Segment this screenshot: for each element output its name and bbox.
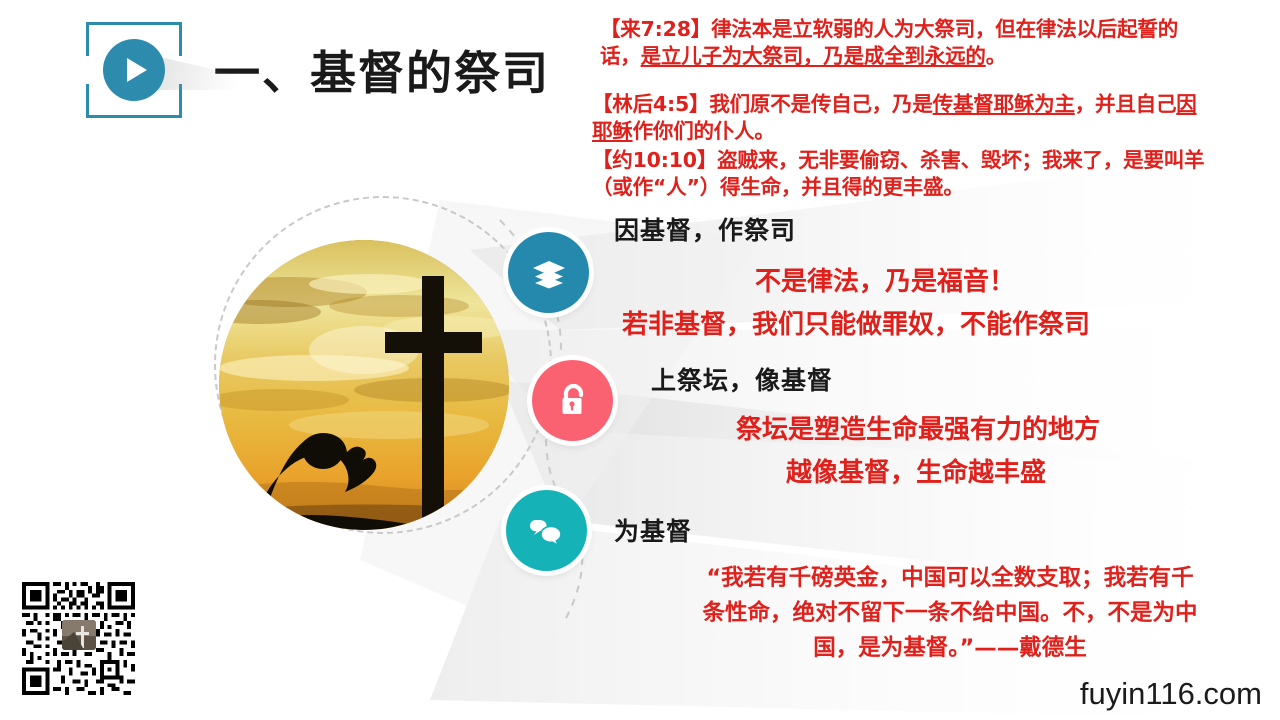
verse-text-1b: 。 <box>986 44 1006 68</box>
point-line-2-1: 祭坛是塑造生命最强有力的地方 <box>736 414 1100 448</box>
bullet-icon-unlock[interactable] <box>532 360 613 441</box>
hudson-taylor-quote: “我若有千磅英金，中国可以全数支取；我若有千 条性命，绝对不留下一条不给中国。不… <box>650 561 1250 666</box>
cross-sunset-photo <box>219 240 509 530</box>
point-line-1-1: 不是律法，乃是福音！ <box>755 266 1015 300</box>
bullet-icon-chat[interactable] <box>506 490 587 571</box>
quote-line-3: 国，是为基督。”——戴德生 <box>650 631 1250 666</box>
frame-edge-top <box>119 22 149 25</box>
verse-text-2-underline: 传基督耶稣为主 <box>933 92 1075 116</box>
play-icon-frame <box>86 22 182 118</box>
point-heading-2: 上祭坛，像基督 <box>651 365 833 398</box>
site-watermark: fuyin116.com <box>1080 676 1262 712</box>
verse-ref-1: 【来7:28】 <box>600 17 711 41</box>
verse-john: 【约10:10】盗贼来，无非要偷窃、杀害、毁坏；我来了，是要叫羊（或作“人”）得… <box>592 147 1217 200</box>
slide-canvas: 一、基督的祭司 <box>0 0 1280 720</box>
verse-ref-2: 【林后4:5】 <box>592 92 709 116</box>
verse-text-2c: 作你们的仆人。 <box>633 119 775 143</box>
qr-code[interactable] <box>22 582 135 695</box>
chat-bubbles-icon <box>527 511 567 551</box>
verse-2corinthians: 【林后4:5】我们原不是传自己，乃是传基督耶稣为主，并且自己因耶稣作你们的仆人。 <box>592 91 1210 144</box>
qr-center-logo <box>62 620 96 650</box>
bullet-icon-layers[interactable] <box>508 232 589 313</box>
point-heading-1: 因基督，作祭司 <box>614 215 796 248</box>
slide-title-row: 一、基督的祭司 <box>86 22 550 118</box>
play-icon[interactable] <box>103 39 165 101</box>
verse-text-1-underline: 是立儿子为大祭司，乃是成全到永远的 <box>641 44 986 68</box>
quote-line-2: 条性命，绝对不留下一条不给中国。不，不是为中 <box>650 596 1250 631</box>
point-heading-3: 为基督 <box>614 516 692 549</box>
verse-text-2b: ，并且自己 <box>1075 92 1177 116</box>
play-triangle-glyph <box>127 58 147 82</box>
point-line-2-2: 越像基督，生命越丰盛 <box>786 457 1046 491</box>
verse-ref-3: 【约10:10】 <box>592 148 717 172</box>
point-line-1-2: 若非基督，我们只能做罪奴，不能作祭司 <box>622 309 1090 343</box>
verse-hebrews: 【来7:28】律法本是立软弱的人为大祭司，但在律法以后起誓的话，是立儿子为大祭司… <box>600 16 1210 69</box>
verse-text-2a: 我们原不是传自己，乃是 <box>709 92 932 116</box>
unlock-icon <box>554 381 592 421</box>
quote-line-1: “我若有千磅英金，中国可以全数支取；我若有千 <box>650 561 1250 596</box>
frame-edge-bottom <box>119 115 149 118</box>
layers-icon <box>529 253 569 293</box>
page-title: 一、基督的祭司 <box>214 37 550 103</box>
